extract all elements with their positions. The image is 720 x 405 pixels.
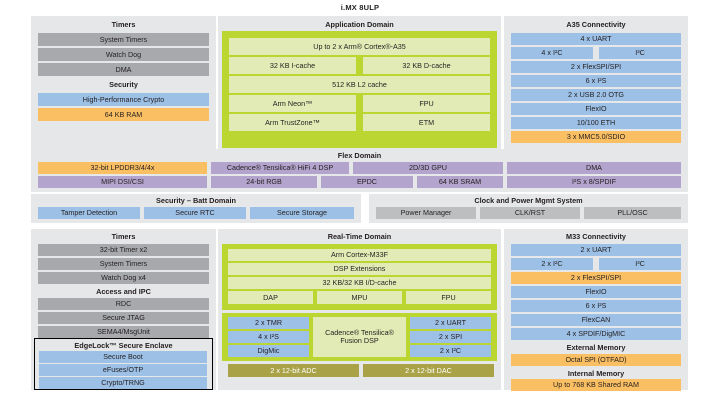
bottom-timers-header: Timers [31, 231, 216, 242]
box-m33-i2s[interactable]: 6 x I²S [511, 300, 681, 312]
box-crypto-trng[interactable]: Crypto/TRNG [39, 377, 207, 389]
realtime-core-group: Arm Cortex-M33F DSP Extensions 32 KB/32 … [222, 244, 497, 310]
box-arm-neon[interactable]: Arm Neon™ [229, 95, 356, 112]
box-cortex-m33f[interactable]: Arm Cortex-M33F [228, 249, 491, 261]
box-a35-eth[interactable]: 10/100 ETH [511, 117, 681, 129]
diagram-root: i.MX 8ULP Timers System Timers Watch Dog… [0, 0, 720, 405]
panel-security-batt-domain: Security – Batt Domain Tamper Detection … [31, 194, 361, 223]
realtime-domain-header: Real-Time Domain [218, 231, 501, 242]
box-bottom-system-timers[interactable]: System Timers [38, 258, 209, 270]
box-2x-tmr[interactable]: 2 x TMR [228, 317, 309, 329]
box-m33-flexspi[interactable]: 2 x FlexSPI/SPI [511, 272, 681, 284]
box-mpu[interactable]: MPU [317, 291, 402, 304]
panel-a35-connectivity: A35 Connectivity 4 x UART 4 x I²C I³C 2 … [504, 16, 688, 155]
box-m33-flexcan[interactable]: FlexCAN [511, 314, 681, 326]
box-a35-i2s[interactable]: 6 x I²S [511, 75, 681, 87]
box-flex-mipi[interactable]: MIPI DSI/CSI [38, 176, 207, 188]
box-m33-2x-i2c[interactable]: 2 x I²C [410, 345, 491, 357]
box-arm-trustzone[interactable]: Arm TrustZone™ [229, 114, 356, 131]
box-secure-boot[interactable]: Secure Boot [39, 351, 207, 363]
box-a35-usb[interactable]: 2 x USB 2.0 OTG [511, 89, 681, 101]
box-flex-rgb[interactable]: 24-bit RGB [211, 176, 317, 188]
edgelock-header: EdgeLock™ Secure Enclave [35, 340, 212, 351]
clock-power-header: Clock and Power Mgmt System [369, 195, 688, 206]
application-domain-header: Application Domain [218, 19, 501, 30]
box-clk-rst[interactable]: CLK/RST [480, 207, 580, 219]
box-a35-flexspi[interactable]: 2 x FlexSPI/SPI [511, 61, 681, 73]
box-power-manager[interactable]: Power Manager [376, 207, 476, 219]
box-sema4-msgunit[interactable]: SEMA4/MsgUnit [38, 326, 209, 338]
box-flex-gpu[interactable]: 2D/3D GPU [353, 162, 503, 174]
box-etm[interactable]: ETM [363, 114, 490, 131]
timers-header: Timers [31, 19, 216, 30]
box-a35-uart[interactable]: 4 x UART [511, 33, 681, 45]
box-4x-i2s[interactable]: 4 x I²S [228, 331, 309, 343]
box-dsp-extensions[interactable]: DSP Extensions [228, 263, 491, 275]
box-shared-ram[interactable]: Up to 768 KB Shared RAM [511, 379, 681, 391]
a35-connectivity-header: A35 Connectivity [504, 19, 688, 30]
panel-top-left: Timers System Timers Watch Dog DMA Secur… [31, 16, 216, 155]
box-flex-hifi4-dsp[interactable]: Cadence® Tensilica® HiFi 4 DSP [211, 162, 349, 174]
box-m33-flexio[interactable]: FlexIO [511, 286, 681, 298]
external-memory-header: External Memory [504, 342, 688, 353]
box-adc[interactable]: 2 x 12-bit ADC [228, 364, 359, 377]
box-m33-i2c[interactable]: 2 x I²C [511, 258, 593, 270]
security-header: Security [31, 79, 216, 90]
box-a35-flexio[interactable]: FlexIO [511, 103, 681, 115]
internal-memory-header: Internal Memory [504, 368, 688, 379]
box-pll-osc[interactable]: PLL/OSC [584, 207, 681, 219]
box-fusion-dsp[interactable]: Cadence® Tensilica® Fusion DSP [313, 317, 406, 357]
security-batt-header: Security – Batt Domain [31, 195, 361, 206]
box-digmic[interactable]: DigMic [228, 345, 309, 357]
box-rdc[interactable]: RDC [38, 298, 209, 310]
box-m33-spdif-digmic[interactable]: 4 x SPDIF/DigMIC [511, 328, 681, 340]
panel-m33-connectivity: M33 Connectivity 2 x UART 2 x I²C I³C 2 … [504, 229, 688, 390]
box-secure-jtag[interactable]: Secure JTAG [38, 312, 209, 324]
box-m33-uart[interactable]: 2 x UART [511, 244, 681, 256]
box-m33-2x-spi[interactable]: 2 x SPI [410, 331, 491, 343]
box-64kb-ram[interactable]: 64 KB RAM [38, 108, 209, 121]
box-secure-storage[interactable]: Secure Storage [250, 207, 354, 219]
box-secure-rtc[interactable]: Secure RTC [144, 207, 246, 219]
box-dac[interactable]: 2 x 12-bit DAC [363, 364, 494, 377]
panel-clock-power-mgmt: Clock and Power Mgmt System Power Manage… [369, 194, 688, 223]
box-high-performance-crypto[interactable]: High-Performance Crypto [38, 93, 209, 106]
box-dap[interactable]: DAP [228, 291, 313, 304]
access-ipc-header: Access and IPC [31, 286, 216, 297]
box-d-cache[interactable]: 32 KB D-cache [363, 57, 490, 74]
box-a35-mmc[interactable]: 3 x MMC5.0/SDIO [511, 131, 681, 143]
box-a35-core[interactable]: Up to 2 x Arm® Cortex®-A35 [229, 38, 490, 55]
panel-flex-domain: Flex Domain 32-bit LPDDR3/4/4x Cadence® … [31, 149, 688, 192]
box-a35-i2c[interactable]: 4 x I²C [511, 47, 593, 59]
box-flex-sram[interactable]: 64 KB SRAM [417, 176, 503, 188]
application-domain-core-group: Up to 2 x Arm® Cortex®-A35 32 KB I-cache… [222, 31, 497, 148]
box-i-cache[interactable]: 32 KB I-cache [229, 57, 356, 74]
box-watch-dog-x4[interactable]: Watch Dog x4 [38, 272, 209, 284]
box-a35-i3c[interactable]: I³C [599, 47, 681, 59]
box-m33-cache[interactable]: 32 KB/32 KB I/D-cache [228, 277, 491, 289]
box-tamper-detection[interactable]: Tamper Detection [38, 207, 140, 219]
box-32bit-timer-x2[interactable]: 32-bit Timer x2 [38, 244, 209, 256]
panel-edgelock-secure-enclave: EdgeLock™ Secure Enclave Secure Boot eFu… [34, 338, 213, 390]
box-m33-fpu[interactable]: FPU [406, 291, 491, 304]
box-l2-cache[interactable]: 512 KB L2 cache [229, 76, 490, 93]
box-flex-i2s-spdif[interactable]: I²S x 8/SPDIF [507, 176, 681, 188]
box-fpu[interactable]: FPU [363, 95, 490, 112]
box-efuses-otp[interactable]: eFuses/OTP [39, 364, 207, 376]
box-flex-epdc[interactable]: EPDC [321, 176, 413, 188]
box-m33-2x-uart[interactable]: 2 x UART [410, 317, 491, 329]
box-flex-lpddr[interactable]: 32-bit LPDDR3/4/4x [38, 162, 207, 174]
realtime-peripheral-group: 2 x TMR 4 x I²S DigMic Cadence® Tensilic… [222, 313, 497, 361]
flex-domain-header: Flex Domain [31, 150, 688, 161]
box-m33-i3c[interactable]: I³C [599, 258, 681, 270]
box-flex-dma[interactable]: DMA [507, 162, 681, 174]
box-octal-spi[interactable]: Octal SPI (OTFAD) [511, 354, 681, 366]
page-title: i.MX 8ULP [0, 3, 720, 12]
box-dma[interactable]: DMA [38, 63, 209, 76]
m33-connectivity-header: M33 Connectivity [504, 231, 688, 242]
box-system-timers[interactable]: System Timers [38, 33, 209, 46]
box-watch-dog[interactable]: Watch Dog [38, 48, 209, 61]
